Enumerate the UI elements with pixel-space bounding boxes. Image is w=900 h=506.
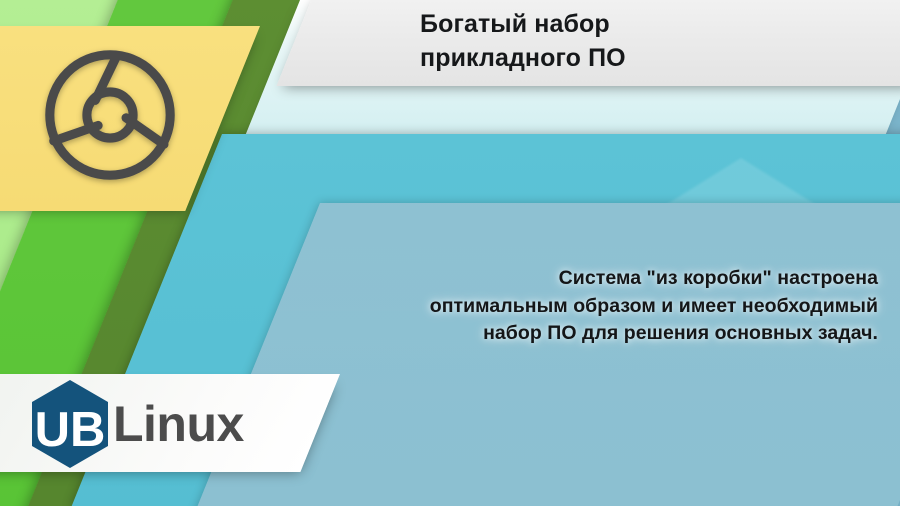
slide-canvas: UB Богатый набор прикладного ПО Система … [0, 0, 900, 506]
aperture-icon [40, 45, 180, 185]
page-title: Богатый набор прикладного ПО [420, 8, 890, 75]
brand-wordmark: Linux [113, 399, 244, 449]
ub-hexagon-icon: UB [28, 378, 112, 470]
body-paragraph: Система "из коробки" настроена оптимальн… [418, 265, 878, 348]
svg-text:UB: UB [35, 403, 106, 457]
brand-logo: UB Linux [28, 378, 244, 470]
